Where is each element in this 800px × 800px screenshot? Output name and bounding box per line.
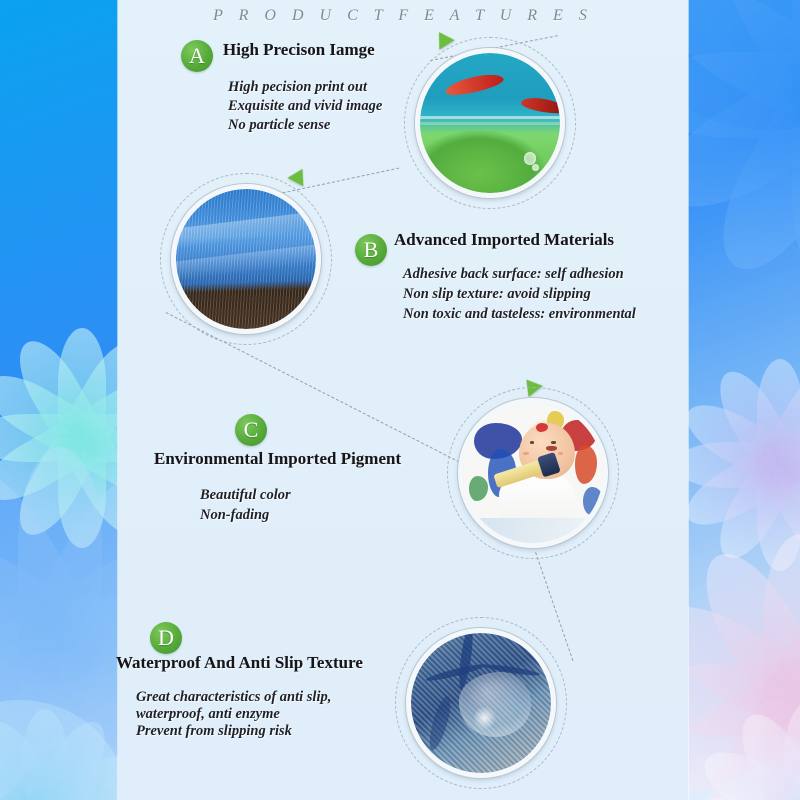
baby-painting-image: [463, 403, 603, 543]
feature-line-a-1: High pecision print out: [228, 78, 367, 97]
koi-pond-image: [420, 53, 560, 193]
blue-fabric-image: [176, 189, 316, 329]
feature-title-a: High Precison Iamge: [223, 40, 375, 60]
feature-badge-a: A: [181, 40, 213, 72]
feature-title-d: Waterproof And Anti Slip Texture: [116, 653, 363, 673]
feature-line-b-3: Non toxic and tasteless: environmental: [403, 305, 636, 324]
arrow-to-photo-b: [288, 165, 311, 187]
product-features-poster: P R O D U C T F E A T U R E S A High Pre…: [0, 0, 800, 800]
feature-photo-b[interactable]: [171, 184, 321, 334]
water-droplet: [459, 672, 532, 736]
decorative-flower-right-low: [680, 690, 800, 800]
koi-fish-2: [520, 95, 560, 115]
feature-badge-c: C: [235, 414, 267, 446]
koi-fish-1: [444, 70, 505, 98]
feature-line-a-2: Exquisite and vivid image: [228, 97, 382, 116]
feature-line-a-3: No particle sense: [228, 116, 330, 135]
feature-photo-d[interactable]: [406, 628, 556, 778]
baby-mouth: [546, 446, 557, 451]
feature-line-c-1: Beautiful color: [200, 486, 291, 505]
feature-line-b-2: Non slip texture: avoid slipping: [403, 285, 591, 304]
feature-line-b-1: Adhesive back surface: self adhesion: [403, 265, 624, 284]
feature-badge-b: B: [355, 234, 387, 266]
background-blob-bottom-left: [0, 700, 130, 800]
feature-line-d-3: Prevent from slipping risk: [136, 722, 292, 741]
water-droplet-image: [411, 633, 551, 773]
feature-photo-c[interactable]: [458, 398, 608, 548]
page-title: P R O D U C T F E A T U R E S: [118, 7, 688, 25]
feature-line-c-2: Non-fading: [200, 506, 269, 525]
feature-badge-d: D: [150, 622, 182, 654]
feature-title-c: Environmental Imported Pigment: [154, 449, 401, 469]
content-panel: P R O D U C T F E A T U R E S A High Pre…: [118, 0, 688, 800]
feature-title-b: Advanced Imported Materials: [394, 230, 614, 250]
feature-photo-a[interactable]: [415, 48, 565, 198]
